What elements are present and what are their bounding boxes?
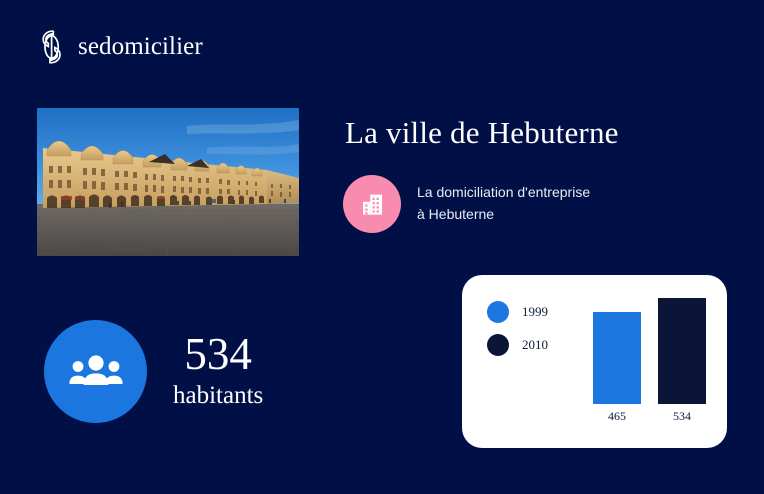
- legend-item-2010[interactable]: 2010: [487, 334, 548, 356]
- building-icon-badge: [343, 175, 401, 233]
- sedomicilier-s-mark-icon: [37, 30, 67, 64]
- subtitle-line-2: à Hebuterne: [417, 204, 590, 226]
- population-block: 534 habitants: [44, 320, 263, 423]
- population-label: habitants: [173, 380, 263, 413]
- bar-value-2010: 534: [673, 409, 691, 424]
- brand-name: sedomicilier: [78, 33, 203, 61]
- subtitle-text: La domiciliation d'entreprise à Hebutern…: [417, 182, 590, 225]
- bar-value-1999: 465: [608, 409, 626, 424]
- city-square-photo-icon: [37, 108, 299, 256]
- population-text: 534 habitants: [173, 331, 263, 413]
- subtitle-row: La domiciliation d'entreprise à Hebutern…: [343, 175, 590, 233]
- legend-dot-2010: [487, 334, 509, 356]
- legend-dot-1999: [487, 301, 509, 323]
- building-icon: [359, 191, 386, 218]
- bar-group-2010[interactable]: 534: [658, 298, 706, 424]
- population-count: 534: [173, 331, 263, 378]
- city-photo: [37, 108, 299, 256]
- bar-group-1999[interactable]: 465: [593, 312, 641, 424]
- population-icon-badge: [44, 320, 147, 423]
- people-group-icon: [68, 352, 124, 392]
- chart-legend: 1999 2010: [487, 301, 548, 367]
- bar-chart-plot: 465 534: [587, 275, 727, 448]
- legend-label-1999: 1999: [522, 304, 548, 320]
- legend-label-2010: 2010: [522, 337, 548, 353]
- population-chart-card: 1999 2010 465 534: [462, 275, 727, 448]
- subtitle-line-1: La domiciliation d'entreprise: [417, 182, 590, 204]
- bar-1999: [593, 312, 641, 404]
- headline-block: La ville de Hebuterne: [345, 115, 740, 151]
- page-title: La ville de Hebuterne: [345, 115, 740, 151]
- brand-logo[interactable]: sedomicilier: [37, 30, 203, 64]
- bar-2010: [658, 298, 706, 404]
- legend-item-1999[interactable]: 1999: [487, 301, 548, 323]
